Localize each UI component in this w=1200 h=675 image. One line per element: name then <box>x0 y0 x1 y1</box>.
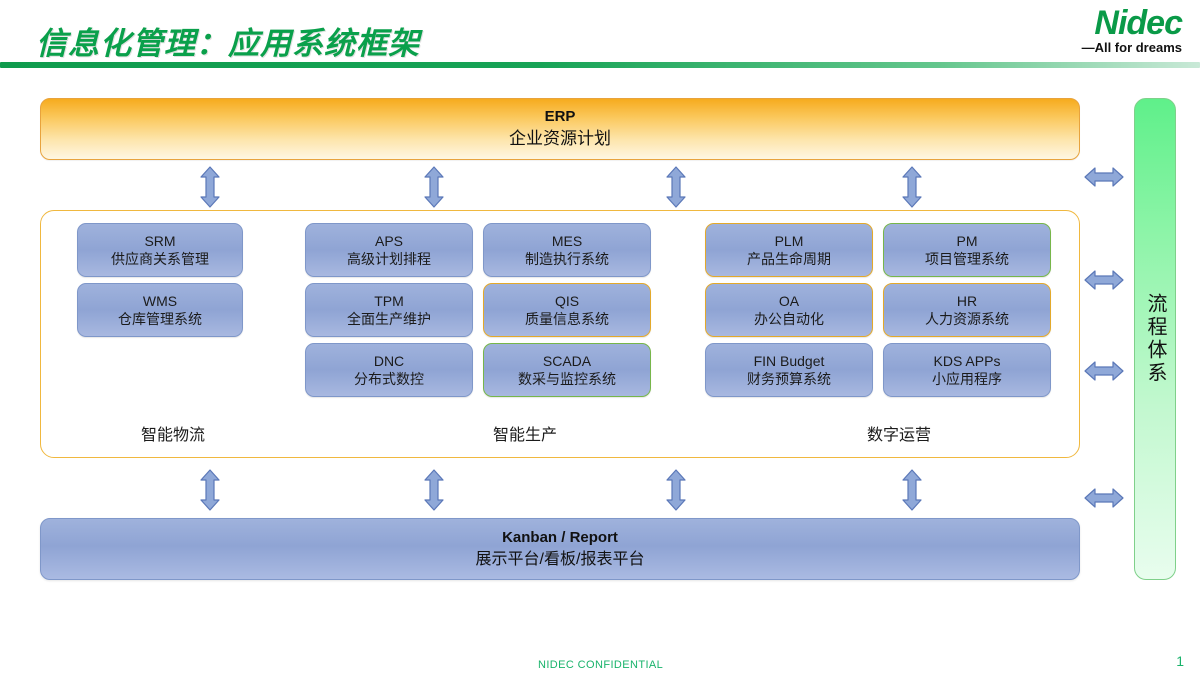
module-label-en: PLM <box>775 232 804 250</box>
module-row: SRM供应商关系管理 <box>77 223 243 283</box>
module-label-en: QIS <box>555 292 579 310</box>
arrow-to-process-bar-2 <box>1084 269 1124 291</box>
module-row: FIN Budget财务预算系统KDS APPs小应用程序 <box>705 343 1051 403</box>
module-row: APS高级计划排程MES制造执行系统 <box>305 223 651 283</box>
nidec-logo: Nidec —All for dreams <box>1020 4 1190 62</box>
module-box-kds-apps[interactable]: KDS APPs小应用程序 <box>883 343 1051 397</box>
module-label-en: OA <box>779 292 799 310</box>
arrow-erp-to-apps-1 <box>199 166 221 208</box>
slide: 信息化管理：应用系统框架 Nidec —All for dreams ERP 企… <box>0 0 1200 675</box>
logo-wordmark: Nidec <box>1094 4 1182 42</box>
module-label-en: WMS <box>143 292 177 310</box>
module-box-oa[interactable]: OA办公自动化 <box>705 283 873 337</box>
module-box-aps[interactable]: APS高级计划排程 <box>305 223 473 277</box>
module-box-qis[interactable]: QIS质量信息系统 <box>483 283 651 337</box>
module-label-en: HR <box>957 292 977 310</box>
arrow-apps-to-kanban-1 <box>199 469 221 511</box>
module-label-en: FIN Budget <box>754 352 825 370</box>
module-label-cn: 全面生产维护 <box>347 310 431 329</box>
section-label-logistics: 智能物流 <box>141 421 205 445</box>
module-label-cn: 分布式数控 <box>354 370 424 389</box>
arrow-to-process-bar-4 <box>1084 487 1124 509</box>
module-label-cn: 人力资源系统 <box>925 310 1009 329</box>
arrow-erp-to-apps-2 <box>423 166 445 208</box>
kanban-report-bar[interactable]: Kanban / Report 展示平台/看板/报表平台 <box>40 518 1080 580</box>
module-row: PLM产品生命周期PM项目管理系统 <box>705 223 1051 283</box>
kanban-label-en: Kanban / Report <box>502 528 618 548</box>
module-label-cn: 高级计划排程 <box>347 250 431 269</box>
column-logistics: SRM供应商关系管理WMS仓库管理系统 <box>77 223 243 343</box>
module-label-cn: 产品生命周期 <box>747 250 831 269</box>
module-box-wms[interactable]: WMS仓库管理系统 <box>77 283 243 337</box>
module-box-plm[interactable]: PLM产品生命周期 <box>705 223 873 277</box>
erp-label-en: ERP <box>545 107 576 127</box>
section-label-production: 智能生产 <box>493 421 557 445</box>
module-label-cn: 数采与监控系统 <box>518 370 616 389</box>
module-label-cn: 仓库管理系统 <box>118 310 202 329</box>
logo-tagline: —All for dreams <box>1082 40 1182 55</box>
module-label-en: MES <box>552 232 582 250</box>
module-label-en: DNC <box>374 352 404 370</box>
module-label-en: TPM <box>374 292 404 310</box>
module-label-en: APS <box>375 232 403 250</box>
arrow-to-process-bar-3 <box>1084 360 1124 382</box>
arrow-erp-to-apps-4 <box>901 166 923 208</box>
module-row: OA办公自动化HR人力资源系统 <box>705 283 1051 343</box>
module-label-cn: 质量信息系统 <box>525 310 609 329</box>
arrow-apps-to-kanban-4 <box>901 469 923 511</box>
module-box-tpm[interactable]: TPM全面生产维护 <box>305 283 473 337</box>
slide-header: 信息化管理：应用系统框架 Nidec —All for dreams <box>0 0 1200 72</box>
module-label-en: SCADA <box>543 352 591 370</box>
section-label-digital: 数字运营 <box>867 421 931 445</box>
arrow-apps-to-kanban-2 <box>423 469 445 511</box>
arrow-erp-to-apps-3 <box>665 166 687 208</box>
module-row: DNC分布式数控SCADA数采与监控系统 <box>305 343 651 403</box>
module-label-cn: 财务预算系统 <box>747 370 831 389</box>
module-box-fin-budget[interactable]: FIN Budget财务预算系统 <box>705 343 873 397</box>
kanban-label-cn: 展示平台/看板/报表平台 <box>476 548 645 571</box>
module-label-cn: 办公自动化 <box>754 310 824 329</box>
module-label-en: PM <box>957 232 978 250</box>
module-label-cn: 供应商关系管理 <box>111 250 209 269</box>
module-box-scada[interactable]: SCADA数采与监控系统 <box>483 343 651 397</box>
process-system-bar[interactable]: 流程体系 <box>1134 98 1176 580</box>
module-label-cn: 小应用程序 <box>932 370 1002 389</box>
arrow-apps-to-kanban-3 <box>665 469 687 511</box>
erp-bar[interactable]: ERP 企业资源计划 <box>40 98 1080 160</box>
module-label-en: SRM <box>144 232 175 250</box>
column-production: APS高级计划排程MES制造执行系统TPM全面生产维护QIS质量信息系统DNC分… <box>305 223 651 403</box>
process-system-label: 流程体系 <box>1142 293 1168 385</box>
module-box-hr[interactable]: HR人力资源系统 <box>883 283 1051 337</box>
arrow-to-process-bar-1 <box>1084 166 1124 188</box>
column-digital: PLM产品生命周期PM项目管理系统OA办公自动化HR人力资源系统FIN Budg… <box>705 223 1051 403</box>
module-box-mes[interactable]: MES制造执行系统 <box>483 223 651 277</box>
erp-label-cn: 企业资源计划 <box>509 127 611 151</box>
module-label-cn: 制造执行系统 <box>525 250 609 269</box>
footer-confidential: NIDEC CONFIDENTIAL <box>538 659 663 671</box>
module-row: WMS仓库管理系统 <box>77 283 243 343</box>
application-layer-container: SRM供应商关系管理WMS仓库管理系统 APS高级计划排程MES制造执行系统TP… <box>40 210 1080 458</box>
module-box-pm[interactable]: PM项目管理系统 <box>883 223 1051 277</box>
header-divider <box>0 62 1200 68</box>
module-box-dnc[interactable]: DNC分布式数控 <box>305 343 473 397</box>
module-box-srm[interactable]: SRM供应商关系管理 <box>77 223 243 277</box>
module-label-cn: 项目管理系统 <box>925 250 1009 269</box>
module-row: TPM全面生产维护QIS质量信息系统 <box>305 283 651 343</box>
module-label-en: KDS APPs <box>934 352 1001 370</box>
page-title: 信息化管理：应用系统框架 <box>36 18 420 63</box>
footer-page-number: 1 <box>1176 653 1184 669</box>
